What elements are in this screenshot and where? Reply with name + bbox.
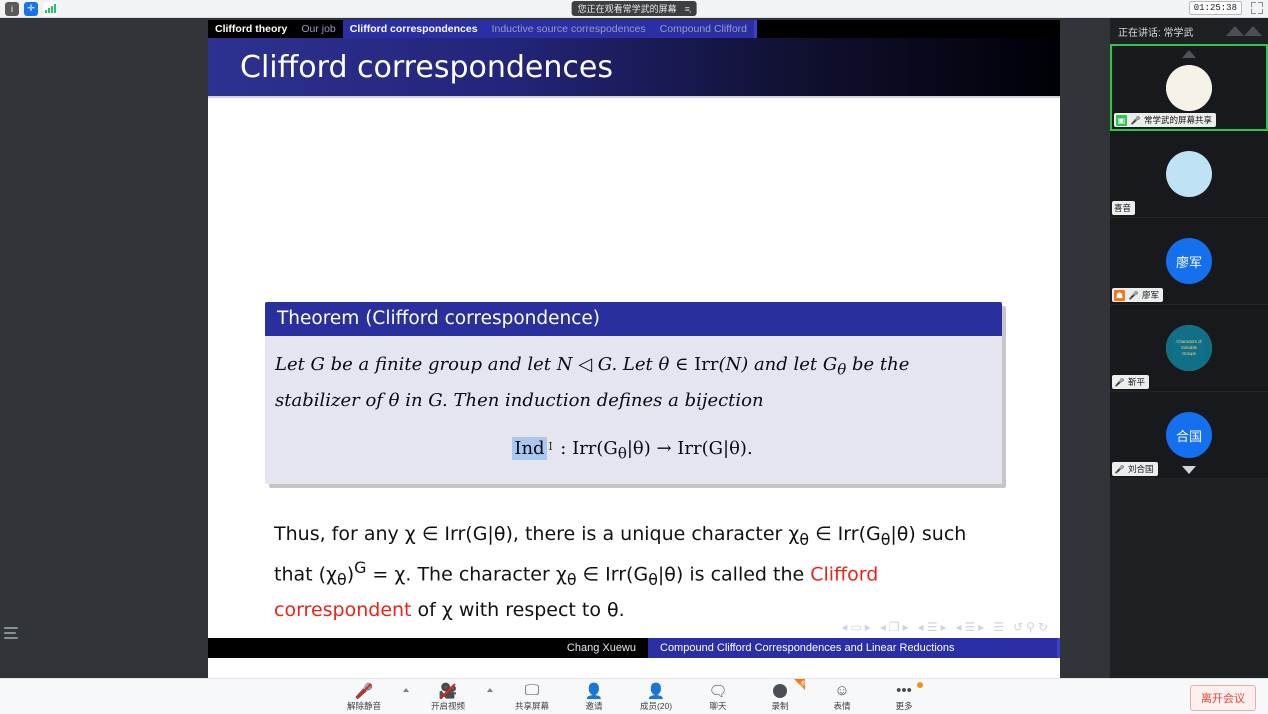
more-icon: ••• <box>896 682 912 699</box>
participant-badge-0: ▣ 🎤 常学武的屏幕共享 <box>1114 113 1216 127</box>
toolbar-label-8: 更多 <box>895 700 912 712</box>
participant-badge-3: 🎤 靳平 <box>1112 375 1149 389</box>
meeting-toolbar: 🎤 解除静音 🎥 开启视频 🖵 共享屏幕 👤 邀请 👤 成员(20) <box>0 678 1268 714</box>
avatar <box>1166 151 1212 197</box>
mic-off-icon: 🎤 <box>1114 464 1125 475</box>
participant-name-2: 廖军 <box>1142 289 1159 301</box>
para-sup1: G <box>354 558 366 577</box>
theorem-line-1: Let G be a finite group and let N ◁ G. L… <box>275 348 990 384</box>
next-section-icon[interactable]: ▸ <box>940 620 946 634</box>
thm-l1-d: be the <box>846 354 909 375</box>
para-sub1: θ <box>799 530 809 549</box>
book-cover-avatar: Characters of Solvable Groups <box>1173 326 1205 370</box>
avatar <box>1166 65 1212 111</box>
participants-icon: 👤 <box>647 682 666 699</box>
nav-group-left: Clifford theory Our job <box>208 20 343 38</box>
next-frame-icon[interactable]: ▸ <box>865 620 871 634</box>
sidebar-header: 正在讲话: 常学武 <box>1110 18 1268 44</box>
list-icon[interactable] <box>4 627 18 639</box>
subsection-icon[interactable]: ❐ <box>889 620 900 634</box>
back-icon[interactable]: ↺ <box>1013 620 1023 634</box>
prev-part-icon[interactable]: ◂ <box>955 620 961 634</box>
mic-on-icon: 🎤 <box>1130 115 1141 126</box>
shield-icon[interactable]: ✛ <box>24 2 38 16</box>
mic-off-icon: 🎤 <box>1114 377 1125 388</box>
prev-subsection-icon[interactable]: ◂ <box>880 620 886 634</box>
theorem-line-2: stabilizer of θ in G. Then induction def… <box>275 384 990 418</box>
screen-share-icon: 🖵 <box>525 682 539 699</box>
participant-name-4: 刘合国 <box>1128 463 1154 475</box>
selected-text-ind[interactable]: Ind <box>512 437 546 460</box>
para-sub2: θ <box>881 530 891 549</box>
subsection-nav-group[interactable]: ◂ ❐ ▸ <box>880 620 909 634</box>
toolbar-label-2: 共享屏幕 <box>515 700 549 712</box>
nav-edge-marker <box>754 20 757 38</box>
nav-item-compound-clifford[interactable]: Compound Clifford <box>653 20 754 38</box>
video-options-caret-icon[interactable] <box>487 688 493 692</box>
theorem-equation: IndI : Irr(Gθ|θ) → Irr(G|θ). <box>275 432 990 468</box>
para-sub4: θ <box>567 570 577 589</box>
nav-item-clifford-theory[interactable]: Clifford theory <box>208 20 294 38</box>
toolbar-label-6: 录制 <box>771 700 788 712</box>
video-off-icon: 🎥 <box>439 682 458 699</box>
meeting-window: i ✛ 您正在观看常学武的屏幕 ≡, 01:25:38 Clifford the… <box>0 0 1268 714</box>
nav-item-clifford-correspondences[interactable]: Clifford correspondences <box>343 20 485 38</box>
para-seg1: Thus, for any χ ∈ Irr(G|θ), there is a u… <box>274 523 799 545</box>
user-icon: ☗ <box>1114 290 1125 301</box>
para-sub5: θ <box>648 570 658 589</box>
para-seg8: |θ) is called the <box>658 563 810 585</box>
frame-nav-group[interactable]: ◂ ▭ ▸ <box>841 620 870 634</box>
footer-author: Chang Xuewu <box>208 642 648 654</box>
toolbar-items: 🎤 解除静音 🎥 开启视频 🖵 共享屏幕 👤 邀请 👤 成员(20) <box>341 679 927 714</box>
part-nav-group[interactable]: ◂ ☰ ▸ <box>955 620 984 634</box>
os-tray-icons: i ✛ <box>0 2 57 16</box>
slide-footer: Chang Xuewu Compound Clifford Correspond… <box>208 638 1060 658</box>
section-icon[interactable]: ☰ <box>927 620 938 634</box>
thm-l1-b: G. Let θ ∈ <box>592 354 694 375</box>
theorem-heading: Theorem (Clifford correspondence) <box>265 302 1002 336</box>
contents-icon[interactable]: ☰ <box>993 620 1004 634</box>
participant-tile-3[interactable]: Characters of Solvable Groups 🎤 靳平 <box>1110 305 1268 392</box>
prev-frame-icon[interactable]: ◂ <box>841 620 847 634</box>
para-seg5: ) <box>347 563 354 585</box>
nav-item-inductive-source[interactable]: Inductive source correspodences <box>485 20 653 38</box>
expand-icon[interactable] <box>1250 1 1264 15</box>
nav-group-right: Clifford correspondences Inductive sourc… <box>343 20 754 38</box>
search-icon[interactable]: ⚲ <box>1026 620 1035 634</box>
toolbar-label-0: 解除静音 <box>347 700 381 712</box>
nav-item-our-job[interactable]: Our job <box>294 20 342 38</box>
toolbar-share-screen-button[interactable]: 🖵 共享屏幕 <box>509 680 555 714</box>
avatar: 廖军 <box>1166 238 1212 284</box>
eq-rest-c: |θ) → Irr(G|θ). <box>627 438 753 459</box>
participant-badge-2: ☗ 🎤 廖军 <box>1112 288 1163 302</box>
slide-body: Theorem (Clifford correspondence) Let G … <box>208 98 1060 658</box>
eq-rest-b: Irr(G <box>572 438 618 459</box>
toolbar-unmute-button[interactable]: 🎤 解除静音 <box>341 680 387 714</box>
thm-l1-a: Let G be a finite group and let N <box>275 354 578 375</box>
toolbar-invite-button[interactable]: 👤 邀请 <box>571 680 617 714</box>
signal-icon[interactable] <box>43 2 57 16</box>
theorem-box: Theorem (Clifford correspondence) Let G … <box>265 302 1002 484</box>
shared-slide[interactable]: Clifford theory Our job Clifford corresp… <box>208 20 1060 680</box>
section-nav-group[interactable]: ◂ ☰ ▸ <box>918 620 947 634</box>
ink-painting-avatar <box>1166 65 1212 111</box>
avatar: 合国 <box>1166 412 1212 458</box>
toolbar-more-button[interactable]: ••• 更多 <box>881 680 927 714</box>
chat-icon: 🗨 <box>708 682 727 699</box>
participant-tile-2[interactable]: 廖军 ☗ 🎤 廖军 <box>1110 218 1268 305</box>
stage-left-rail[interactable] <box>0 618 22 648</box>
toolbar-label-1: 开启视频 <box>431 700 465 712</box>
para-seg2: ∈ Irr(G <box>809 523 881 545</box>
participant-tile-4[interactable]: 合国 🎤 刘合国 <box>1110 392 1268 479</box>
para-seg6: = χ. The character χ <box>366 563 566 585</box>
participant-badge-4: 🎤 刘合国 <box>1112 462 1158 476</box>
avatar: Characters of Solvable Groups <box>1166 325 1212 371</box>
record-icon <box>773 682 787 699</box>
eq-sub: θ <box>618 445 627 463</box>
participant-name-3: 靳平 <box>1128 376 1145 388</box>
thm-l1-irr: Irr <box>694 354 718 375</box>
body-paragraph: Thus, for any χ ∈ Irr(G|θ), there is a u… <box>274 518 1004 628</box>
mic-options-caret-icon[interactable] <box>403 688 409 692</box>
next-subsection-icon[interactable]: ▸ <box>903 620 909 634</box>
text-cursor-icon: I <box>547 437 555 458</box>
scroll-down-arrow[interactable] <box>1182 466 1196 474</box>
watching-screen-notice: 您正在观看常学武的屏幕 ≡, <box>572 1 697 16</box>
toolbar-label-5: 聊天 <box>709 700 726 712</box>
highlight-correspondent: correspondent <box>274 599 412 621</box>
forward-icon[interactable]: ↻ <box>1038 620 1048 634</box>
thm-l1-sub: θ <box>837 361 846 379</box>
page-title: Clifford correspondences <box>208 50 613 85</box>
eq-rest-a: : <box>555 438 573 459</box>
footer-talk-title: Compound Clifford Correspondences and Li… <box>648 638 1060 658</box>
toolbar-label-3: 邀请 <box>585 700 602 712</box>
participant-tile-1[interactable]: 喜音 <box>1110 131 1268 218</box>
frame-icon[interactable]: ▭ <box>850 620 861 634</box>
mic-off-icon: 🎤 <box>1128 290 1139 301</box>
participant-sidebar: 正在讲话: 常学武 ▣ 🎤 常学武的屏幕共享 喜音 廖军 ☗ 🎤 <box>1110 18 1268 678</box>
para-seg9: of χ with respect to θ. <box>412 599 625 621</box>
invite-icon: 👤 <box>585 682 604 699</box>
info-icon[interactable]: i <box>5 2 19 16</box>
thm-l1-c: (N) and let G <box>718 354 837 375</box>
highlight-clifford: Clifford <box>810 563 878 585</box>
leave-meeting-button[interactable]: 离开会议 <box>1190 685 1256 711</box>
para-sub3: θ <box>337 570 347 589</box>
slide-title-bar: Clifford correspondences <box>208 38 1060 98</box>
toolbar-label-4: 成员(20) <box>640 700 672 712</box>
speaking-label: 正在讲话: 常学武 <box>1118 24 1194 39</box>
toolbar-record-button[interactable]: 免费 录制 <box>757 680 803 714</box>
emoji-icon: ☺ <box>834 682 849 699</box>
more-notification-dot <box>917 682 923 688</box>
para-seg3: |θ) <box>890 523 915 545</box>
toolbar-label-7: 表情 <box>833 700 850 712</box>
toolbar-chat-button[interactable]: 🗨 聊天 <box>695 680 741 714</box>
participant-name-1: 喜音 <box>1114 202 1131 214</box>
meeting-timer: 01:25:38 <box>1189 1 1242 15</box>
notice-menu-icon[interactable]: ≡, <box>685 4 691 14</box>
history-nav-group[interactable]: ↺ ⚲ ↻ <box>1013 620 1048 634</box>
beamer-navigation-bar: Clifford theory Our job Clifford corresp… <box>208 20 1060 38</box>
chevron-up-icon[interactable] <box>1226 26 1262 36</box>
prev-section-icon[interactable]: ◂ <box>918 620 924 634</box>
os-top-bar: i ✛ 您正在观看常学武的屏幕 ≡, 01:25:38 <box>0 0 1268 18</box>
thm-l1-normal: ◁ <box>578 354 592 375</box>
next-part-icon[interactable]: ▸ <box>978 620 984 634</box>
toolbar-emoji-button[interactable]: ☺ 表情 <box>819 680 865 714</box>
beamer-nav-symbols: ◂ ▭ ▸ ◂ ❐ ▸ ◂ ☰ ▸ ◂ ☰ ▸ <box>841 620 1048 634</box>
part-icon[interactable]: ☰ <box>965 620 976 634</box>
participant-name-0: 常学武的屏幕共享 <box>1144 114 1212 126</box>
theorem-statement: Let G be a finite group and let N ◁ G. L… <box>265 336 1002 484</box>
toolbar-participants-button[interactable]: 👤 成员(20) <box>633 680 679 714</box>
os-bar-right: 01:25:38 <box>1189 1 1264 15</box>
watching-screen-text: 您正在观看常学武的屏幕 <box>578 2 677 15</box>
participant-badge-1: 喜音 <box>1112 201 1135 215</box>
para-seg7: ∈ Irr(G <box>577 563 649 585</box>
screen-share-icon: ▣ <box>1116 115 1127 126</box>
scroll-up-arrow[interactable] <box>1182 50 1196 58</box>
toolbar-video-button[interactable]: 🎥 开启视频 <box>425 680 471 714</box>
mic-muted-icon: 🎤 <box>355 682 374 699</box>
participant-tile-0[interactable]: ▣ 🎤 常学武的屏幕共享 <box>1110 44 1268 131</box>
